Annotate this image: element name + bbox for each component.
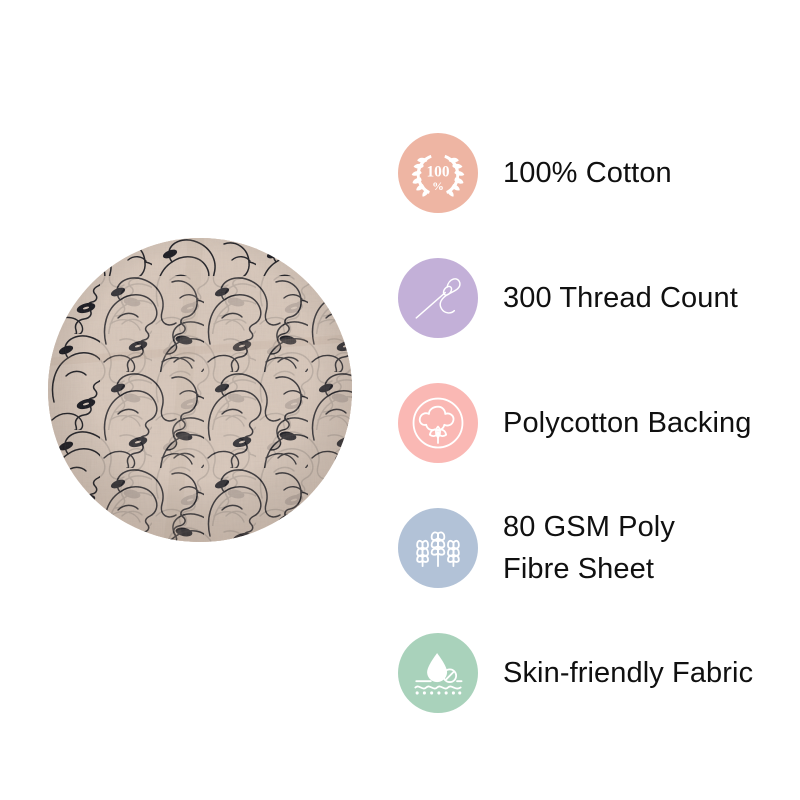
- fabric-swatch: [48, 238, 352, 542]
- cotton-boll-icon: [398, 383, 478, 463]
- icon-label-100: 100: [426, 163, 449, 180]
- feature-list: 100 % 100% Cotton 300 Thread Count: [398, 110, 788, 735]
- feature-label-cotton: 100% Cotton: [503, 152, 672, 194]
- feature-row-polycotton: Polycotton Backing: [398, 360, 788, 485]
- feature-row-cotton: 100 % 100% Cotton: [398, 110, 788, 235]
- feature-row-skin-friendly: Skin-friendly Fabric: [398, 610, 788, 735]
- feature-label-gsm: 80 GSM Poly Fibre Sheet: [503, 506, 675, 590]
- feature-label-polycotton: Polycotton Backing: [503, 402, 751, 444]
- water-droplet-repellent-icon: [398, 633, 478, 713]
- feature-label-skin-friendly: Skin-friendly Fabric: [503, 652, 753, 694]
- needle-and-thread-icon: [398, 258, 478, 338]
- fabric-pattern-art: [48, 238, 352, 542]
- feature-label-thread-count: 300 Thread Count: [503, 277, 738, 319]
- laurel-wreath-100-percent-icon: 100 %: [398, 133, 478, 213]
- feature-row-gsm: 80 GSM Poly Fibre Sheet: [398, 485, 788, 610]
- icon-label-percent: %: [432, 180, 444, 193]
- wheat-stalks-icon: [398, 508, 478, 588]
- feature-row-thread-count: 300 Thread Count: [398, 235, 788, 360]
